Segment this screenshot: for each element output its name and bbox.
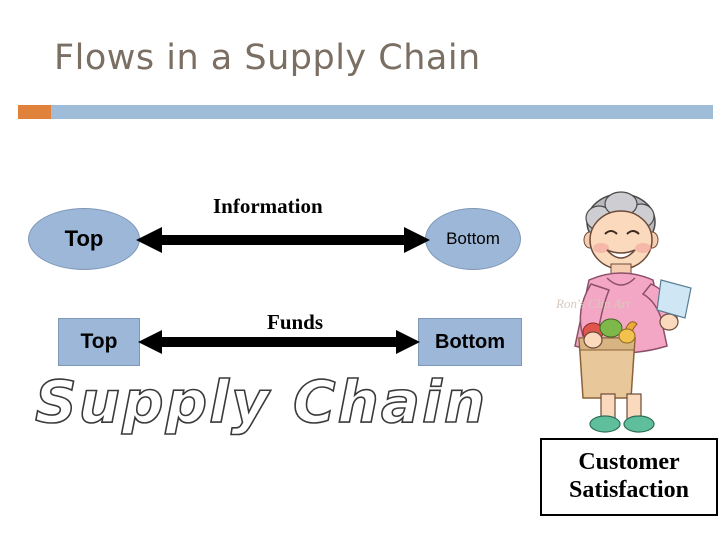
node-rect-bottom: Bottom (418, 318, 522, 366)
information-label: Information (213, 194, 323, 219)
elderly-woman-with-groceries-clipart (549, 188, 709, 436)
callout-line-1: Customer (578, 449, 679, 477)
wordart-supply-chain: Supply Chain (33, 372, 543, 436)
callout-line-2: Satisfaction (569, 477, 689, 505)
title-accent-bar-orange (18, 105, 51, 119)
node-ellipse-top: Top (28, 208, 140, 270)
node-rect-top: Top (58, 318, 140, 366)
funds-label: Funds (267, 310, 323, 335)
slide: Flows in a Supply Chain Top Bottom Top B… (0, 0, 728, 546)
wordart-text: Supply Chain (35, 372, 487, 436)
page-title: Flows in a Supply Chain (54, 38, 481, 78)
customer-satisfaction-callout: Customer Satisfaction (540, 438, 718, 516)
node-ellipse-bottom: Bottom (425, 208, 521, 270)
title-accent-bar-blue (51, 105, 713, 119)
information-arrow-icon (136, 222, 430, 258)
